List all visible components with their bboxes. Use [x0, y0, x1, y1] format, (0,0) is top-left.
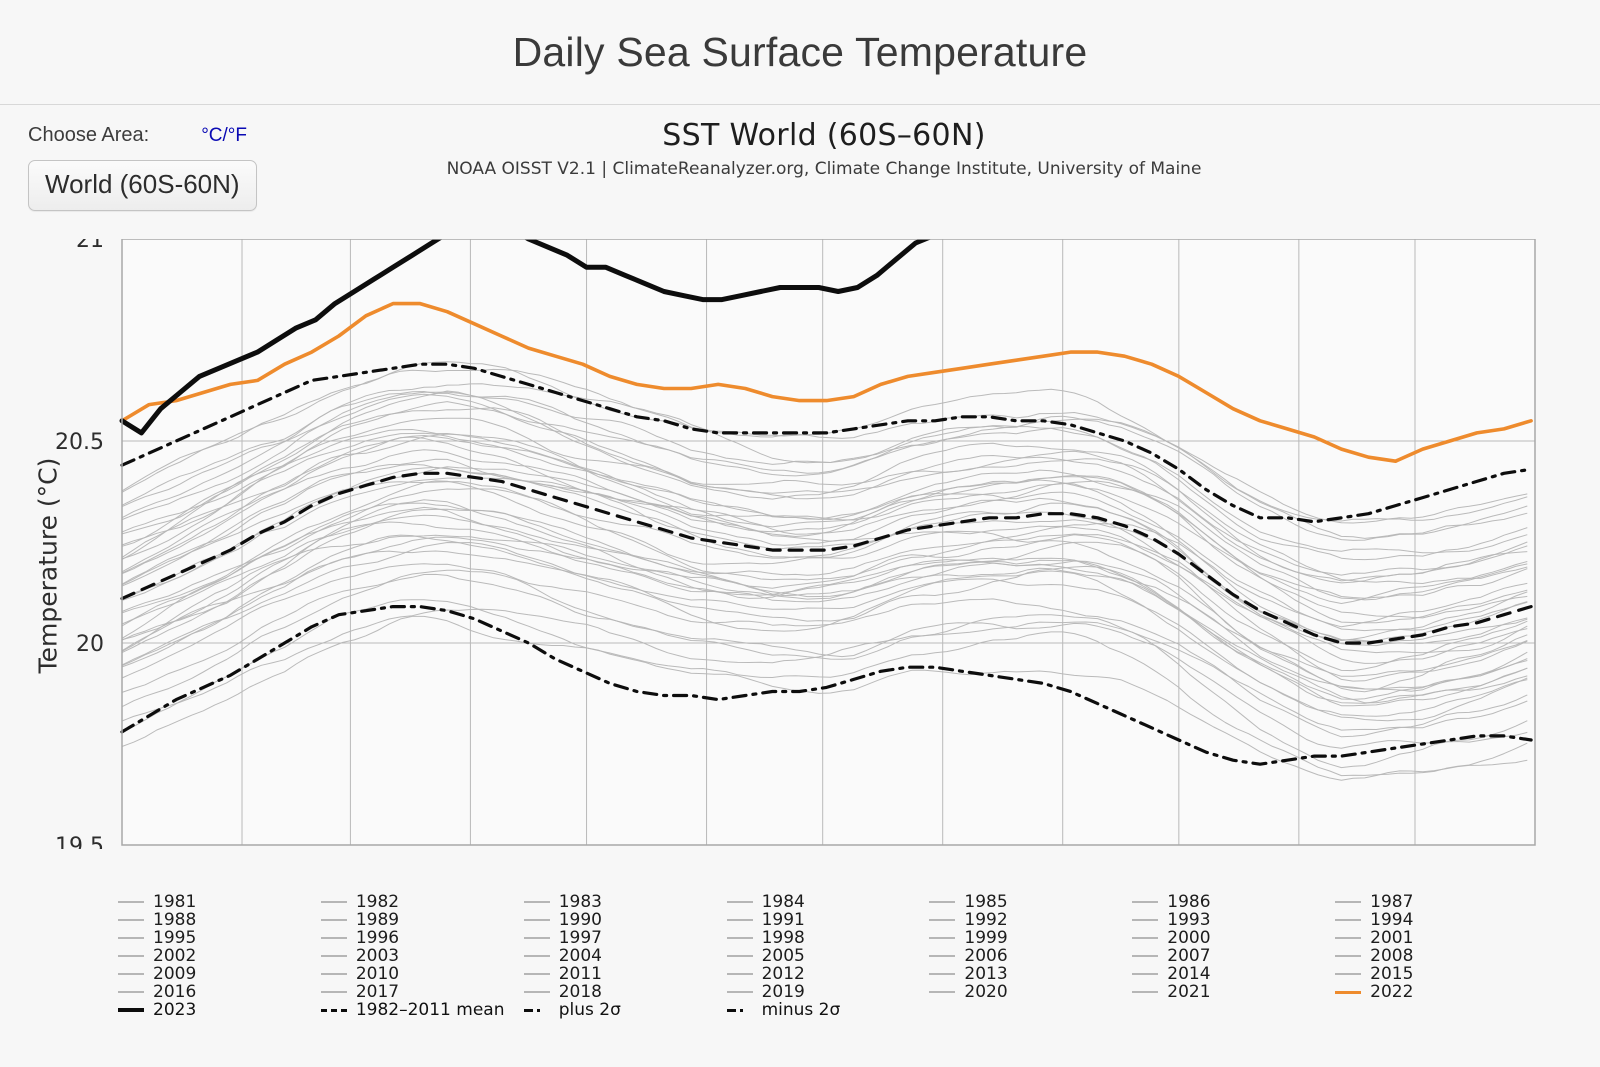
legend-item-2005[interactable]: 2005 — [727, 947, 930, 965]
y-tick-label: 20 — [76, 632, 104, 657]
legend-swatch-icon — [1335, 937, 1361, 939]
legend-swatch-icon — [1335, 919, 1361, 921]
legend-item-1989[interactable]: 1989 — [321, 911, 524, 929]
legend-swatch-icon — [118, 973, 144, 975]
legend-swatch-icon — [1132, 955, 1158, 957]
legend-item-label: 1983 — [559, 892, 602, 912]
legend-item-2020[interactable]: 2020 — [929, 983, 1132, 1001]
legend-item-label: 2013 — [964, 964, 1007, 984]
legend-swatch-icon — [727, 955, 753, 957]
legend-item-label: 2007 — [1167, 946, 1210, 966]
legend-item-1984[interactable]: 1984 — [727, 893, 930, 911]
legend-item-label: 1981 — [153, 892, 196, 912]
legend-item-label: 1982 — [356, 892, 399, 912]
legend-item-label: 2005 — [762, 946, 805, 966]
legend-swatch-icon — [727, 1009, 753, 1012]
legend-swatch-icon — [1132, 991, 1158, 993]
legend-item-2022[interactable]: 2022 — [1335, 983, 1538, 1001]
legend-item-label: 2001 — [1370, 928, 1413, 948]
legend-item-2015[interactable]: 2015 — [1335, 965, 1538, 983]
legend-swatch-icon — [727, 937, 753, 939]
legend-swatch-icon — [929, 955, 955, 957]
legend-item-label: 2010 — [356, 964, 399, 984]
legend-item-label: 2004 — [559, 946, 602, 966]
legend-swatch-icon — [1132, 937, 1158, 939]
legend-item-label: 1982–2011 mean — [356, 1000, 505, 1020]
legend-item-2002[interactable]: 2002 — [118, 947, 321, 965]
legend-item-label: 1985 — [964, 892, 1007, 912]
legend-swatch-icon — [727, 991, 753, 993]
legend-swatch-icon — [524, 991, 550, 993]
legend-swatch-icon — [321, 919, 347, 921]
legend-item-label: 1999 — [964, 928, 1007, 948]
legend-item-label: 2002 — [153, 946, 196, 966]
legend-item-2007[interactable]: 2007 — [1132, 947, 1335, 965]
legend-item-1982[interactable]: 1982 — [321, 893, 524, 911]
legend-item-2013[interactable]: 2013 — [929, 965, 1132, 983]
legend-item-label: 1987 — [1370, 892, 1413, 912]
legend-item-1981[interactable]: 1981 — [118, 893, 321, 911]
legend-swatch-icon — [524, 919, 550, 921]
legend-item-1986[interactable]: 1986 — [1132, 893, 1335, 911]
legend-item-label: 1986 — [1167, 892, 1210, 912]
legend-swatch-icon — [321, 973, 347, 975]
legend-swatch-icon — [321, 901, 347, 903]
legend-item-label: 1984 — [762, 892, 805, 912]
legend-item-1988[interactable]: 1988 — [118, 911, 321, 929]
legend-item-label: 1993 — [1167, 910, 1210, 930]
legend-item-2010[interactable]: 2010 — [321, 965, 524, 983]
legend-item-1990[interactable]: 1990 — [524, 911, 727, 929]
legend-item-2000[interactable]: 2000 — [1132, 929, 1335, 947]
legend-item-plus-2-[interactable]: plus 2σ — [524, 1001, 727, 1019]
legend-swatch-icon — [727, 973, 753, 975]
legend-swatch-icon — [1335, 973, 1361, 975]
chart-title: SST World (60S–60N) — [48, 118, 1600, 153]
legend-item-2012[interactable]: 2012 — [727, 965, 930, 983]
legend-swatch-icon — [321, 955, 347, 957]
legend-item-label: 2000 — [1167, 928, 1210, 948]
legend-item-2003[interactable]: 2003 — [321, 947, 524, 965]
legend-item-2021[interactable]: 2021 — [1132, 983, 1335, 1001]
legend-swatch-icon — [118, 919, 144, 921]
legend-item-label: 2018 — [559, 982, 602, 1002]
legend-item-label: plus 2σ — [559, 1000, 621, 1020]
chart-svg: 19.52020.521Jan 1Feb 1Mar 1Apr 1May 1Jun… — [0, 239, 1600, 849]
legend-item-label: 1994 — [1370, 910, 1413, 930]
legend-item-label: 2011 — [559, 964, 602, 984]
legend-swatch-icon — [929, 919, 955, 921]
legend-item-1994[interactable]: 1994 — [1335, 911, 1538, 929]
legend-item-2006[interactable]: 2006 — [929, 947, 1132, 965]
legend-swatch-icon — [1335, 901, 1361, 903]
legend-item-1983[interactable]: 1983 — [524, 893, 727, 911]
legend-item-1995[interactable]: 1995 — [118, 929, 321, 947]
legend-swatch-icon — [929, 901, 955, 903]
legend-swatch-icon — [1335, 991, 1361, 994]
legend-item-2018[interactable]: 2018 — [524, 983, 727, 1001]
chart-header: SST World (60S–60N) NOAA OISST V2.1 | Cl… — [0, 118, 1600, 179]
legend-item-label: 1991 — [762, 910, 805, 930]
legend-item-1991[interactable]: 1991 — [727, 911, 930, 929]
legend-item-label: 2023 — [153, 1000, 196, 1020]
legend-item-2011[interactable]: 2011 — [524, 965, 727, 983]
legend-item-2009[interactable]: 2009 — [118, 965, 321, 983]
legend-item-label: 2021 — [1167, 982, 1210, 1002]
legend-swatch-icon — [524, 1009, 550, 1012]
legend-swatch-icon — [321, 1009, 347, 1012]
legend-item-label: 2019 — [762, 982, 805, 1002]
legend-swatch-icon — [118, 1008, 144, 1012]
legend-swatch-icon — [524, 901, 550, 903]
legend-swatch-icon — [929, 991, 955, 993]
legend-item-label: 2014 — [1167, 964, 1210, 984]
legend-swatch-icon — [524, 955, 550, 957]
legend-item-label: 2020 — [964, 982, 1007, 1002]
legend-swatch-icon — [1132, 901, 1158, 903]
legend-item-2017[interactable]: 2017 — [321, 983, 524, 1001]
legend-swatch-icon — [118, 901, 144, 903]
legend-item-label: 1989 — [356, 910, 399, 930]
legend-item-label: 2009 — [153, 964, 196, 984]
legend-item-1993[interactable]: 1993 — [1132, 911, 1335, 929]
legend-item-label: 2016 — [153, 982, 196, 1002]
legend-item-label: 2015 — [1370, 964, 1413, 984]
chart-legend: 1981198219831984198519861987198819891990… — [118, 893, 1538, 1019]
legend-item-label: 2012 — [762, 964, 805, 984]
legend-item-label: 1996 — [356, 928, 399, 948]
legend-swatch-icon — [321, 991, 347, 993]
legend-item-label: 2003 — [356, 946, 399, 966]
legend-item-1997[interactable]: 1997 — [524, 929, 727, 947]
legend-item-label: 2022 — [1370, 982, 1413, 1002]
legend-swatch-icon — [929, 973, 955, 975]
legend-swatch-icon — [118, 991, 144, 993]
legend-swatch-icon — [524, 973, 550, 975]
legend-item-2016[interactable]: 2016 — [118, 983, 321, 1001]
plot-area: Temperature (°C) 19.52020.521Jan 1Feb 1M… — [0, 239, 1600, 849]
legend-item-1999[interactable]: 1999 — [929, 929, 1132, 947]
legend-swatch-icon — [1335, 955, 1361, 957]
legend-item-2004[interactable]: 2004 — [524, 947, 727, 965]
legend-item-label: 1995 — [153, 928, 196, 948]
legend-swatch-icon — [118, 955, 144, 957]
legend-swatch-icon — [1132, 919, 1158, 921]
legend-item-minus-2-[interactable]: minus 2σ — [727, 1001, 930, 1019]
legend-item-label: 1992 — [964, 910, 1007, 930]
legend-item-label: 2006 — [964, 946, 1007, 966]
legend-item-2001[interactable]: 2001 — [1335, 929, 1538, 947]
legend-item-label: 1990 — [559, 910, 602, 930]
legend-item-1992[interactable]: 1992 — [929, 911, 1132, 929]
legend-item-label: 2017 — [356, 982, 399, 1002]
legend-swatch-icon — [118, 937, 144, 939]
legend-swatch-icon — [727, 901, 753, 903]
legend-item-label: 1998 — [762, 928, 805, 948]
legend-swatch-icon — [524, 937, 550, 939]
legend-swatch-icon — [727, 919, 753, 921]
legend-swatch-icon — [1132, 973, 1158, 975]
y-axis-title: Temperature (°C) — [34, 286, 63, 846]
legend-item-1987[interactable]: 1987 — [1335, 893, 1538, 911]
legend-item-label: 1988 — [153, 910, 196, 930]
legend-item-2023[interactable]: 2023 — [118, 1001, 321, 1019]
legend-item-1996[interactable]: 1996 — [321, 929, 524, 947]
legend-item-label: 1997 — [559, 928, 602, 948]
legend-item-label: minus 2σ — [762, 1000, 841, 1020]
chart-subtitle: NOAA OISST V2.1 | ClimateReanalyzer.org,… — [48, 159, 1600, 179]
legend-item-2014[interactable]: 2014 — [1132, 965, 1335, 983]
page-title: Daily Sea Surface Temperature — [513, 29, 1088, 76]
legend-item-1985[interactable]: 1985 — [929, 893, 1132, 911]
legend-item-2008[interactable]: 2008 — [1335, 947, 1538, 965]
y-tick-label: 21 — [76, 239, 104, 253]
legend-swatch-icon — [929, 937, 955, 939]
page-header: Daily Sea Surface Temperature — [0, 0, 1600, 105]
legend-item-1982-2011-mean[interactable]: 1982–2011 mean — [321, 1001, 524, 1019]
legend-item-1998[interactable]: 1998 — [727, 929, 930, 947]
legend-item-label: 2008 — [1370, 946, 1413, 966]
legend-item-2019[interactable]: 2019 — [727, 983, 930, 1001]
legend-swatch-icon — [321, 937, 347, 939]
